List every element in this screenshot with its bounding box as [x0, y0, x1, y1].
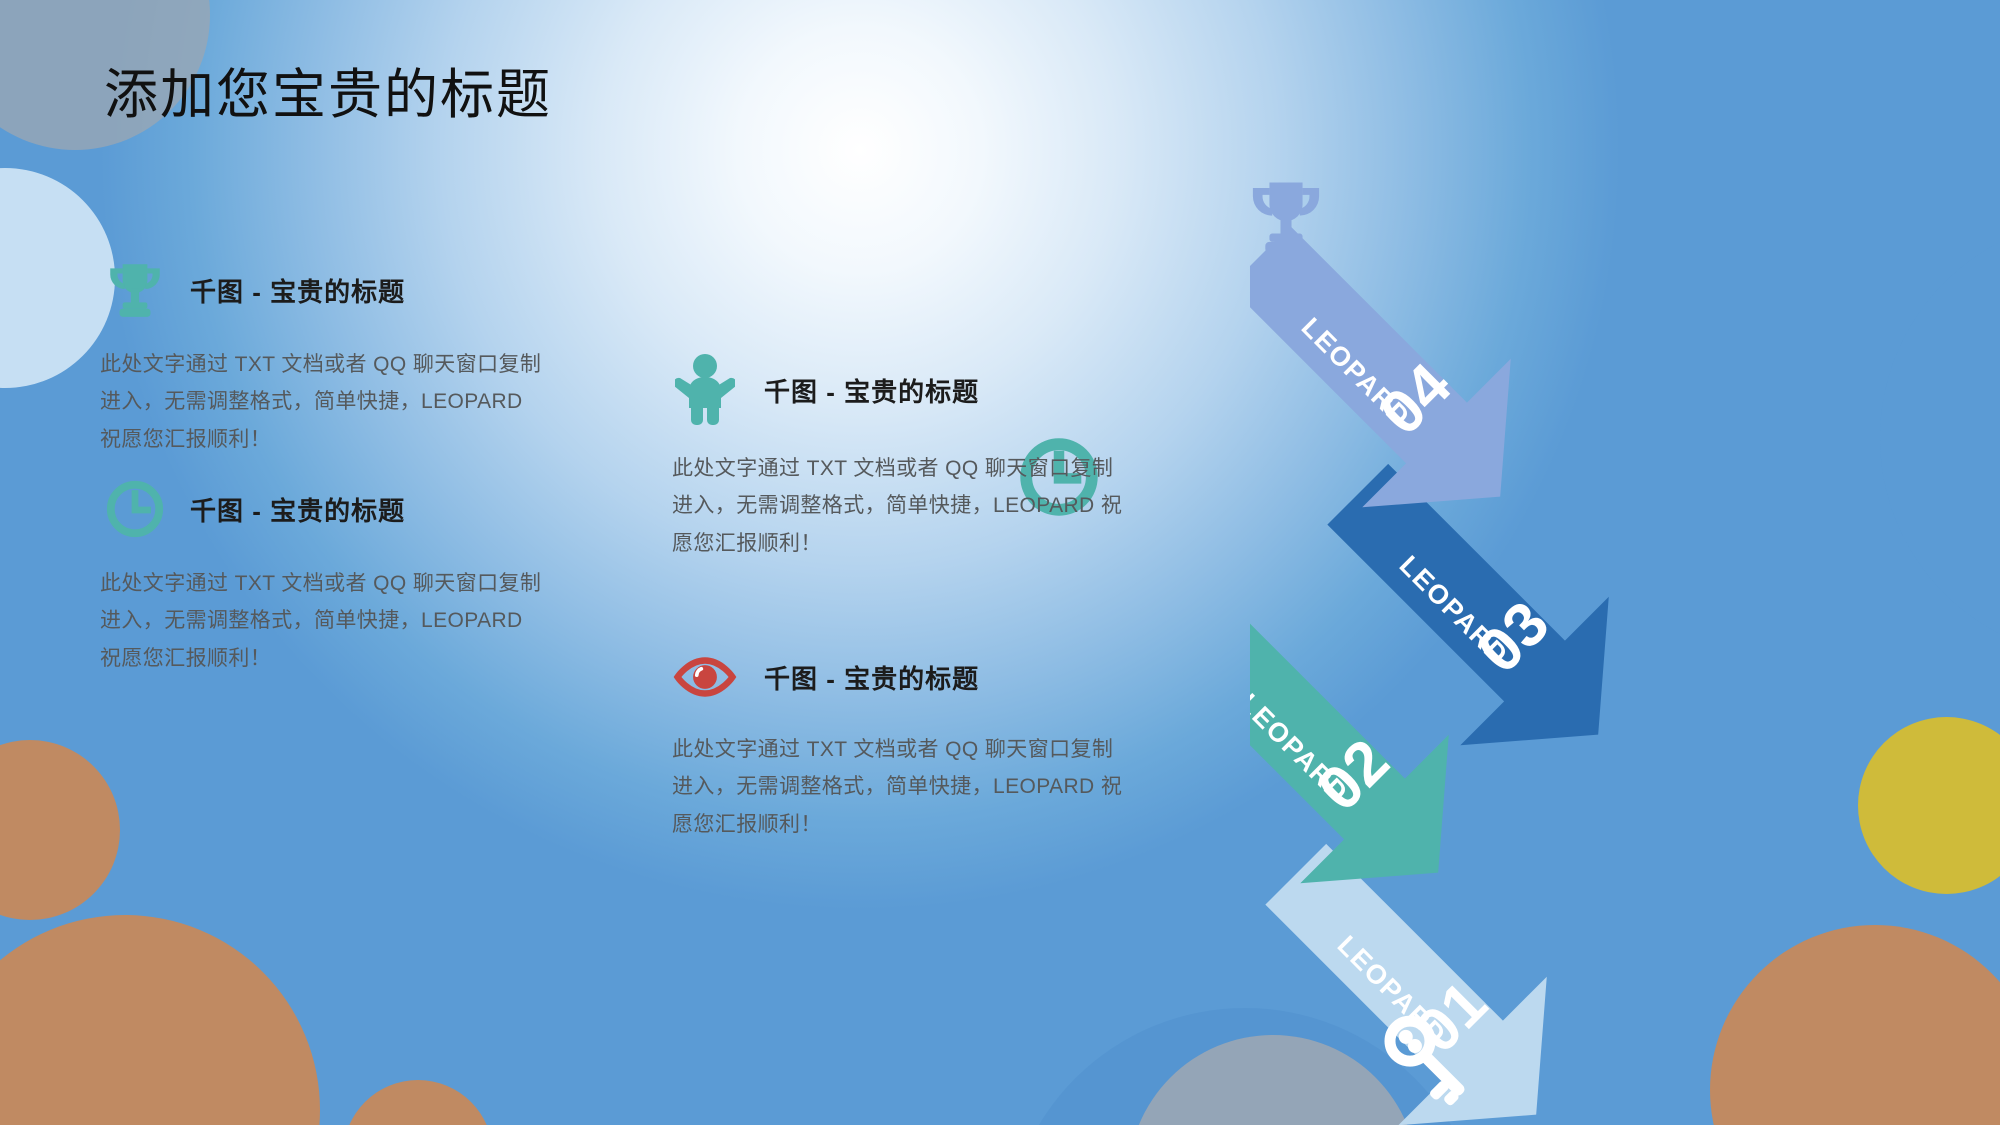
decor-circle-brown-upperleft	[0, 740, 120, 920]
person-icon	[672, 352, 738, 428]
arrow-process-diagram: 04 LEOPARD 03 LEOPARD 02 LEOPARD 01 LEOP…	[1250, 180, 2000, 1125]
content-block-person: 千图 - 宝贵的标题 此处文字通过 TXT 文档或者 QQ 聊天窗口复制进入，无…	[672, 352, 1142, 562]
block-2-header: 千图 - 宝贵的标题	[100, 477, 570, 541]
block-4-body: 此处文字通过 TXT 文档或者 QQ 聊天窗口复制进入，无需调整格式，简单快捷，…	[672, 731, 1132, 843]
eye-icon	[672, 645, 738, 709]
decor-circle-brown-bottomleft2	[343, 1080, 493, 1125]
block-3-body: 此处文字通过 TXT 文档或者 QQ 聊天窗口复制进入，无需调整格式，简单快捷，…	[672, 450, 1132, 562]
content-block-clock: 千图 - 宝贵的标题 此处文字通过 TXT 文档或者 QQ 聊天窗口复制进入，无…	[100, 477, 570, 677]
block-1-body: 此处文字通过 TXT 文档或者 QQ 聊天窗口复制进入，无需调整格式，简单快捷，…	[100, 346, 550, 458]
content-block-trophy: 千图 - 宝贵的标题 此处文字通过 TXT 文档或者 QQ 聊天窗口复制进入，无…	[100, 258, 570, 458]
trophy-icon	[100, 258, 170, 322]
block-4-title: 千图 - 宝贵的标题	[764, 659, 979, 696]
block-2-title: 千图 - 宝贵的标题	[190, 491, 405, 528]
slide-canvas: 添加您宝贵的标题 04 LEOPARD	[0, 0, 2000, 1125]
arrow-04-trophy-icon	[1240, 177, 1332, 257]
block-1-header: 千图 - 宝贵的标题	[100, 258, 570, 322]
block-4-header: 千图 - 宝贵的标题	[672, 645, 1142, 709]
content-block-eye: 千图 - 宝贵的标题 此处文字通过 TXT 文档或者 QQ 聊天窗口复制进入，无…	[672, 645, 1142, 843]
block-2-body: 此处文字通过 TXT 文档或者 QQ 聊天窗口复制进入，无需调整格式，简单快捷，…	[100, 565, 550, 677]
block-1-title: 千图 - 宝贵的标题	[190, 272, 405, 309]
decor-circle-lightblue-left	[0, 168, 115, 388]
block-3-title: 千图 - 宝贵的标题	[764, 372, 979, 409]
decor-circle-brown-large-left	[0, 915, 320, 1125]
block-3-header: 千图 - 宝贵的标题	[672, 352, 1142, 428]
clock-icon	[100, 477, 170, 541]
page-title: 添加您宝贵的标题	[104, 62, 552, 130]
